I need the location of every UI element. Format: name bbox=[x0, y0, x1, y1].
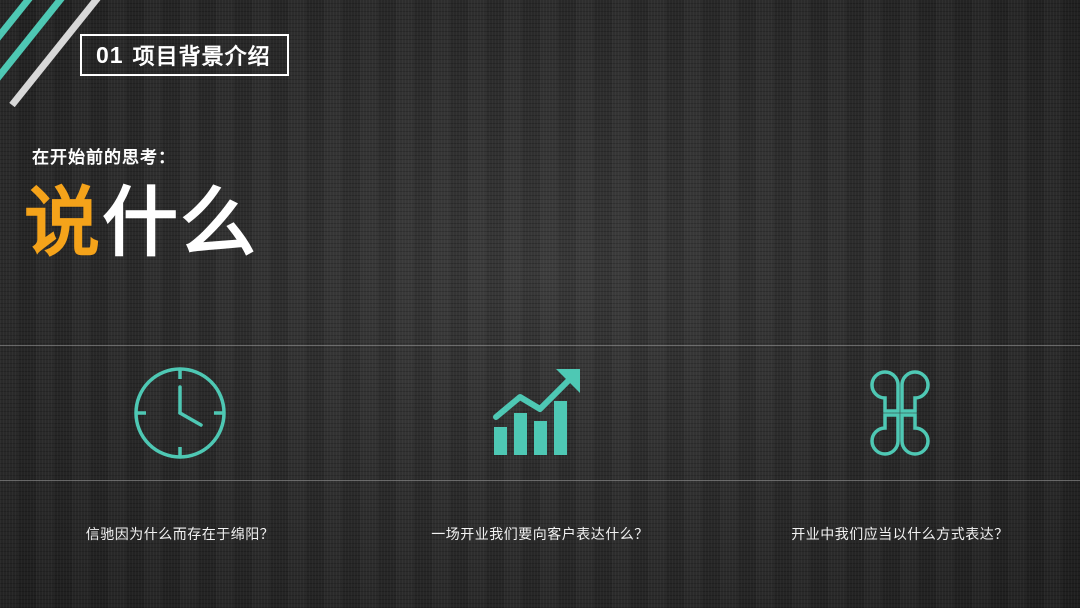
icons-row bbox=[0, 345, 1080, 480]
subtitle-text: 在开始前的思考： bbox=[32, 143, 176, 168]
caption-1: 信驰因为什么而存在于绵阳？ bbox=[0, 524, 360, 544]
growth-bar-chart-icon bbox=[488, 367, 592, 459]
captions-row: 信驰因为什么而存在于绵阳？ 一场开业我们要向客户表达什么？ 开业中我们应当以什么… bbox=[0, 524, 1080, 544]
caption-3: 开业中我们应当以什么方式表达？ bbox=[720, 524, 1080, 544]
clock-icon bbox=[129, 362, 231, 464]
headline-plain: 什么 bbox=[102, 181, 258, 266]
headline: 说什么 bbox=[24, 186, 258, 262]
section-title-box: 01 项目背景介绍 bbox=[80, 34, 289, 76]
slide: 01 项目背景介绍 在开始前的思考： 说什么 bbox=[0, 0, 1080, 608]
icon-cell-2 bbox=[360, 345, 720, 480]
divider-bottom bbox=[0, 480, 1080, 481]
background-texture bbox=[0, 0, 1080, 608]
section-number: 01 bbox=[96, 42, 124, 69]
caption-2: 一场开业我们要向客户表达什么？ bbox=[360, 524, 720, 544]
page-title: 项目背景介绍 bbox=[133, 39, 271, 71]
icon-cell-3 bbox=[720, 345, 1080, 480]
clover-flower-icon bbox=[850, 363, 950, 463]
icon-cell-1 bbox=[0, 345, 360, 480]
headline-accent: 说 bbox=[24, 181, 102, 266]
